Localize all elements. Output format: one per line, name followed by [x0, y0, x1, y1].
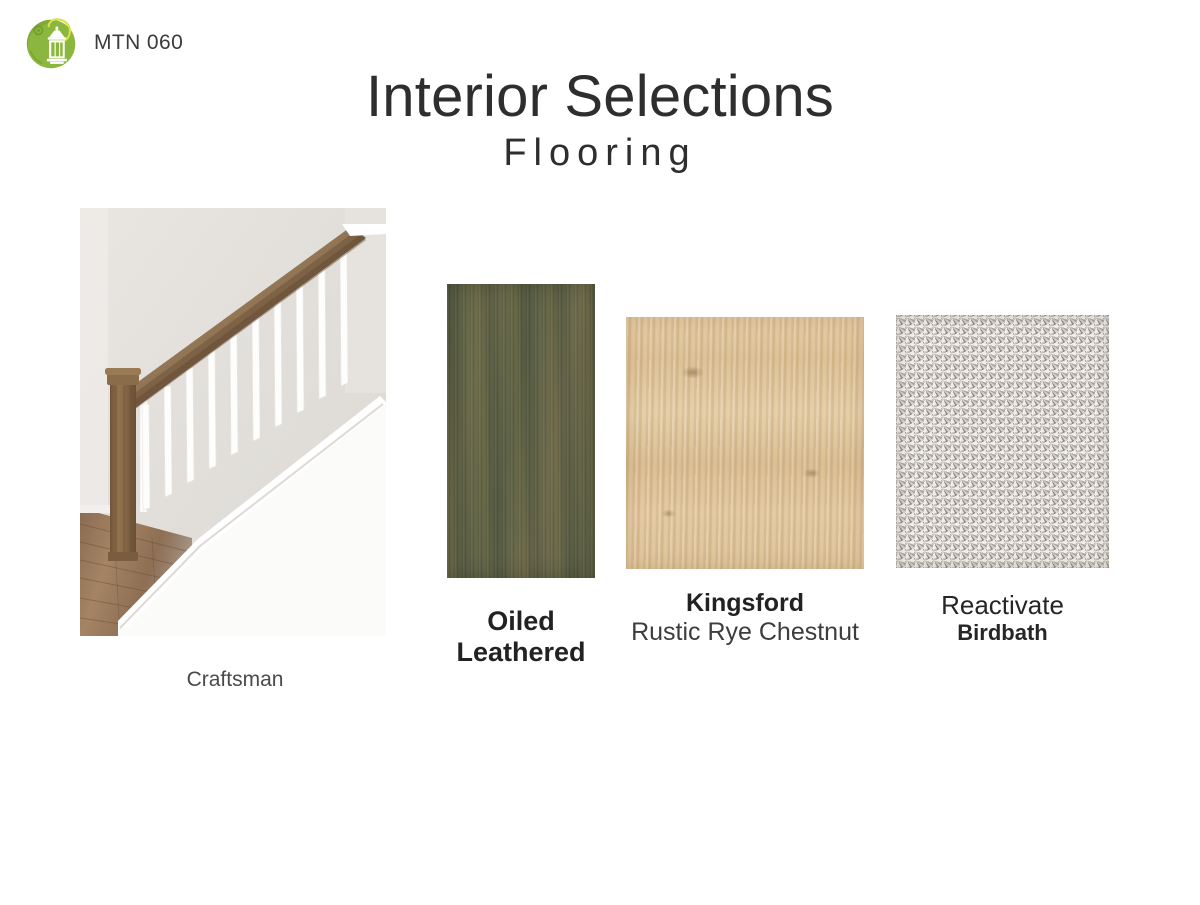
selection-secondary-label: Leathered: [428, 637, 614, 668]
selection-secondary-label: Rustic Rye Chestnut: [600, 618, 890, 647]
selection-caption: Craftsman: [80, 668, 390, 692]
selection-secondary-label: Birdbath: [880, 620, 1125, 646]
wood-swatch-oiled-leathered: [447, 284, 595, 578]
project-code-label: MTN 060: [94, 31, 183, 55]
page-title: Interior Selections: [0, 66, 1200, 129]
selection-caption: Kingsford Rustic Rye Chestnut: [600, 589, 890, 647]
lantern-logo-icon: [22, 12, 84, 74]
selection-item-kingsford[interactable]: Kingsford Rustic Rye Chestnut: [600, 317, 890, 647]
slide-canvas: MTN 060 Interior Selections Flooring: [0, 0, 1200, 905]
selection-item-reactivate[interactable]: Reactivate Birdbath: [880, 315, 1125, 646]
brand-header: MTN 060: [22, 12, 183, 74]
selection-primary-label: Oiled: [428, 606, 614, 637]
carpet-swatch-reactivate: [896, 315, 1109, 568]
title-block: Interior Selections Flooring: [0, 66, 1200, 174]
selection-item-oiled-leathered[interactable]: Oiled Leathered: [428, 284, 614, 669]
selection-item-craftsman[interactable]: Craftsman: [80, 208, 390, 692]
wood-swatch-kingsford: [626, 317, 864, 569]
selection-primary-label: Craftsman: [80, 668, 390, 692]
selection-primary-label: Reactivate: [880, 590, 1125, 620]
selection-primary-label: Kingsford: [600, 589, 890, 618]
selection-caption: Oiled Leathered: [428, 606, 614, 669]
staircase-photo: [80, 208, 386, 636]
selection-caption: Reactivate Birdbath: [880, 590, 1125, 646]
page-subtitle: Flooring: [0, 133, 1200, 175]
